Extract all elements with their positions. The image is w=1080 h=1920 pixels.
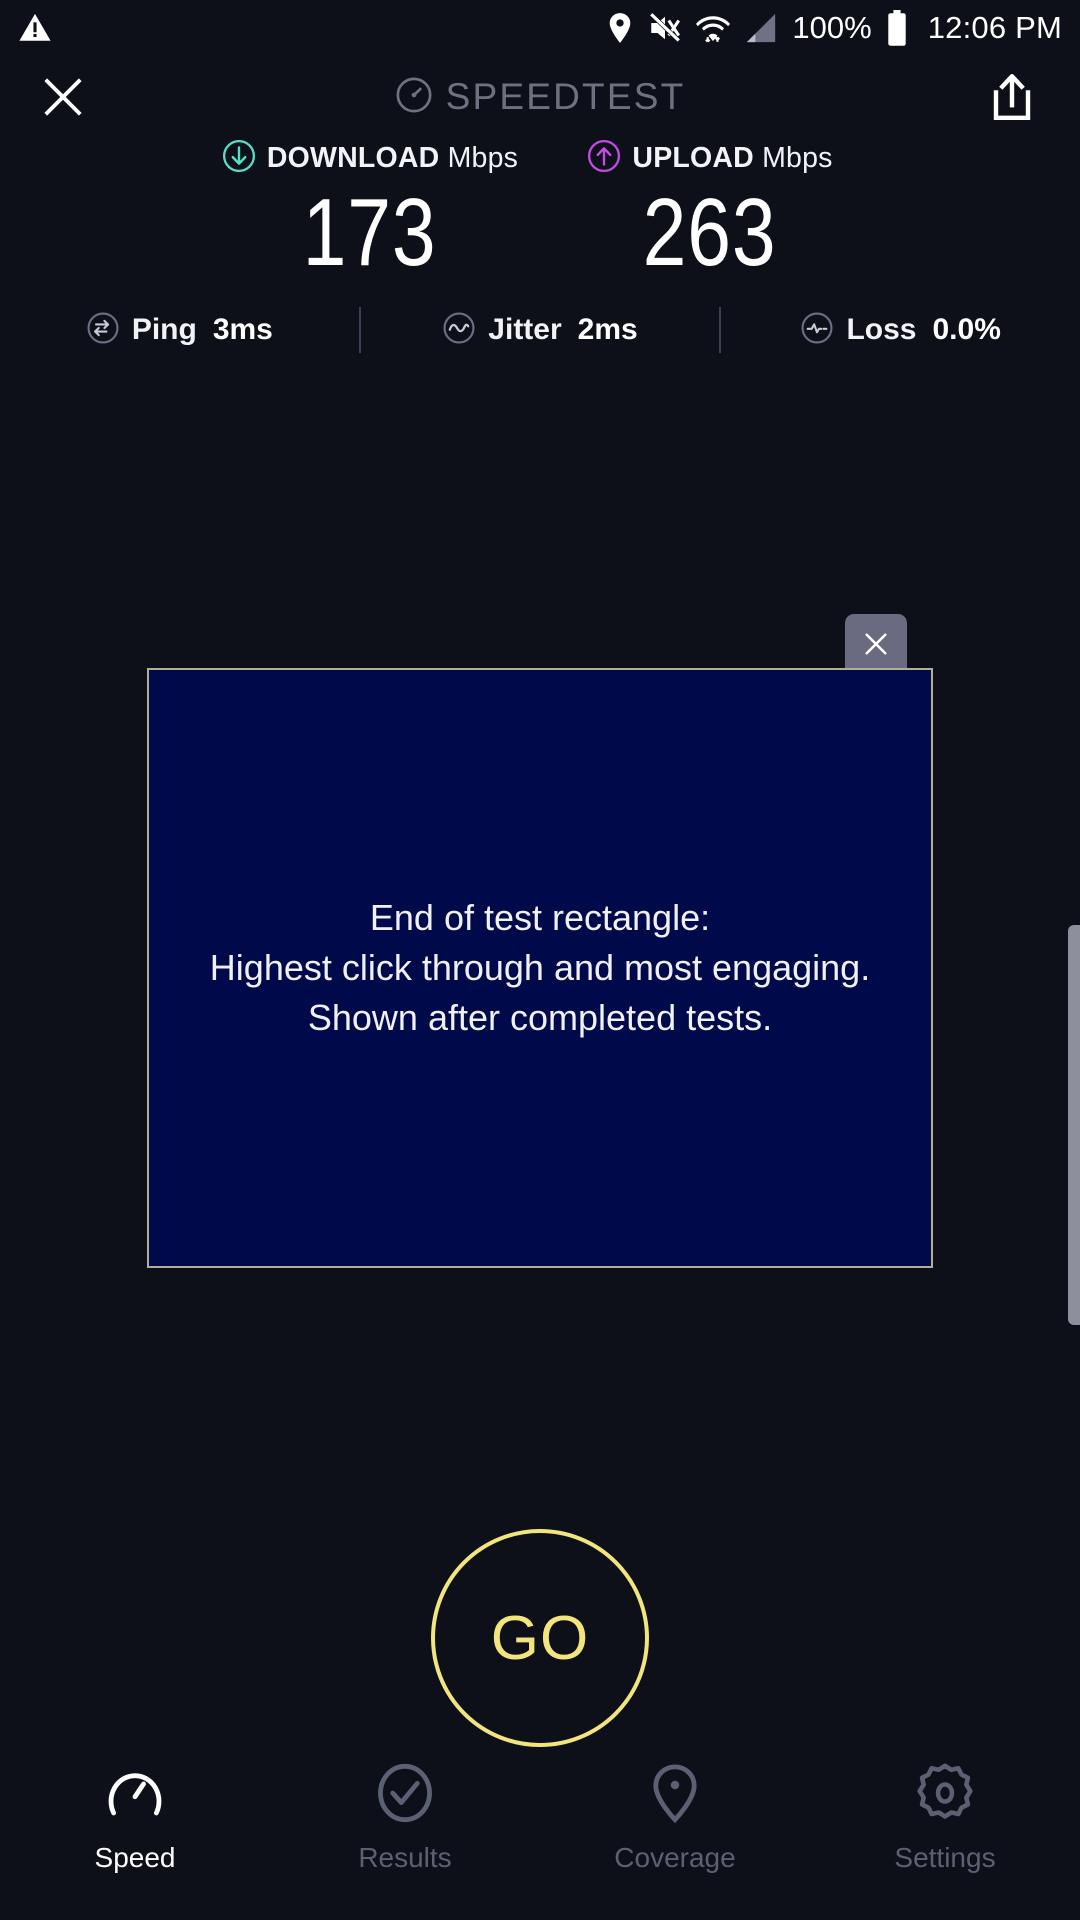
nav-label-speed: Speed (95, 1842, 176, 1874)
network-metrics-row: Ping 3ms Jitter 2ms Los (0, 300, 1080, 360)
upload-result: UPLOAD Mbps 263 (540, 138, 880, 282)
download-arrow-circle-icon (222, 139, 256, 178)
nav-item-results[interactable]: Results (270, 1760, 540, 1874)
advertisement: End of test rectangle: Highest click thr… (147, 614, 933, 1268)
nav-label-coverage: Coverage (614, 1842, 735, 1874)
upload-value: 263 (643, 184, 777, 282)
app-header: SPEEDTEST (0, 56, 1080, 138)
status-bar: 100% 12:06 PM (0, 0, 1080, 56)
results-panel: DOWNLOAD Mbps 173 UPLOAD Mbps 263 (0, 138, 1080, 282)
status-bar-right: 100% 12:06 PM (606, 10, 1062, 46)
brand-title: SPEEDTEST (446, 76, 686, 118)
brand: SPEEDTEST (395, 76, 686, 119)
jitter-value: 2ms (578, 313, 638, 347)
download-value: 173 (303, 184, 437, 282)
ad-text: End of test rectangle: Highest click thr… (204, 893, 876, 1042)
upload-kind: UPLOAD (632, 142, 754, 174)
bottom-navigation: Speed Results Coverage (0, 1750, 1080, 1920)
nav-label-results: Results (358, 1842, 451, 1874)
upload-arrow-circle-icon (587, 139, 621, 178)
loss-icon (800, 311, 834, 350)
ping-label: Ping (132, 313, 197, 347)
go-button-label: GO (491, 1603, 589, 1674)
status-bar-left (18, 11, 52, 45)
loss-label: Loss (846, 313, 916, 347)
nav-item-coverage[interactable]: Coverage (540, 1760, 810, 1874)
speedometer-icon (395, 76, 433, 119)
download-kind: DOWNLOAD (267, 142, 440, 174)
download-label: DOWNLOAD Mbps (267, 142, 518, 175)
upload-label: UPLOAD Mbps (632, 142, 832, 175)
upload-label-row: UPLOAD Mbps (587, 138, 832, 178)
jitter-label: Jitter (488, 313, 561, 347)
close-icon (40, 74, 86, 120)
go-button[interactable]: GO (431, 1529, 649, 1747)
metric-ping: Ping 3ms (0, 311, 359, 350)
download-result: DOWNLOAD Mbps 173 (200, 138, 540, 282)
wifi-icon (696, 11, 730, 45)
ad-banner[interactable]: End of test rectangle: Highest click thr… (147, 668, 933, 1268)
download-unit: Mbps (448, 142, 519, 174)
speedtest-app-screen: 100% 12:06 PM SP (0, 0, 1080, 1920)
metric-jitter: Jitter 2ms (361, 311, 720, 350)
gear-icon (913, 1760, 977, 1826)
download-label-row: DOWNLOAD Mbps (222, 138, 518, 178)
share-button[interactable] (984, 69, 1040, 125)
ping-icon (86, 311, 120, 350)
metric-loss: Loss 0.0% (721, 311, 1080, 350)
nav-item-speed[interactable]: Speed (0, 1760, 270, 1874)
location-pin-icon (606, 12, 634, 44)
close-icon (861, 629, 891, 659)
ad-close-button[interactable] (845, 614, 907, 674)
cellular-signal-icon (744, 12, 778, 44)
speed-row: DOWNLOAD Mbps 173 UPLOAD Mbps 263 (0, 138, 1080, 282)
status-bar-clock: 12:06 PM (928, 10, 1062, 46)
nav-item-settings[interactable]: Settings (810, 1760, 1080, 1874)
check-circle-icon (373, 1760, 437, 1826)
battery-full-icon (886, 10, 908, 46)
volume-muted-icon (648, 13, 682, 43)
jitter-icon (442, 311, 476, 350)
share-icon (990, 73, 1034, 121)
ping-value: 3ms (213, 313, 273, 347)
loss-value: 0.0% (933, 313, 1001, 347)
close-button[interactable] (34, 68, 92, 126)
nav-label-settings: Settings (894, 1842, 995, 1874)
speedometer-icon (103, 1760, 167, 1826)
scrollbar[interactable] (1068, 925, 1080, 1325)
map-pin-icon (643, 1760, 707, 1826)
battery-percent-label: 100% (792, 10, 871, 46)
upload-unit: Mbps (762, 142, 833, 174)
warning-triangle-icon (18, 11, 52, 45)
